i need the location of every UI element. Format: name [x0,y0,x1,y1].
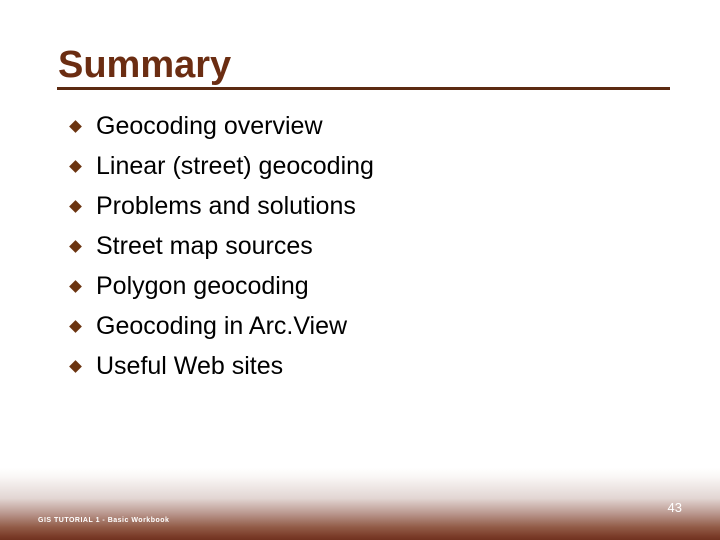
diamond-bullet-icon [69,360,82,373]
list-item-label: Problems and solutions [96,192,356,220]
list-item: Linear (street) geocoding [60,146,660,186]
list-item-label: Geocoding overview [96,112,323,140]
list-item-label: Linear (street) geocoding [96,152,374,180]
diamond-bullet-icon [69,160,82,173]
list-item: Polygon geocoding [60,266,660,306]
bullet-list: Geocoding overview Linear (street) geoco… [60,106,660,386]
list-item: Geocoding in Arc.View [60,306,660,346]
list-item-label: Street map sources [96,232,313,260]
diamond-bullet-icon [69,200,82,213]
diamond-bullet-icon [69,240,82,253]
list-item: Useful Web sites [60,346,660,386]
diamond-bullet-icon [69,280,82,293]
slide: Summary Geocoding overview Linear (stree… [0,0,720,540]
footer-label: GIS TUTORIAL 1 - Basic Workbook [38,517,169,524]
list-item: Geocoding overview [60,106,660,146]
page-number: 43 [668,500,682,515]
list-item-label: Polygon geocoding [96,272,309,300]
page-title: Summary [58,44,231,86]
list-item: Street map sources [60,226,660,266]
list-item: Problems and solutions [60,186,660,226]
list-item-label: Geocoding in Arc.View [96,312,347,340]
footer-bar: GIS TUTORIAL 1 - Basic Workbook 43 [0,468,720,540]
diamond-bullet-icon [69,120,82,133]
diamond-bullet-icon [69,320,82,333]
title-divider [57,87,670,90]
list-item-label: Useful Web sites [96,352,283,380]
